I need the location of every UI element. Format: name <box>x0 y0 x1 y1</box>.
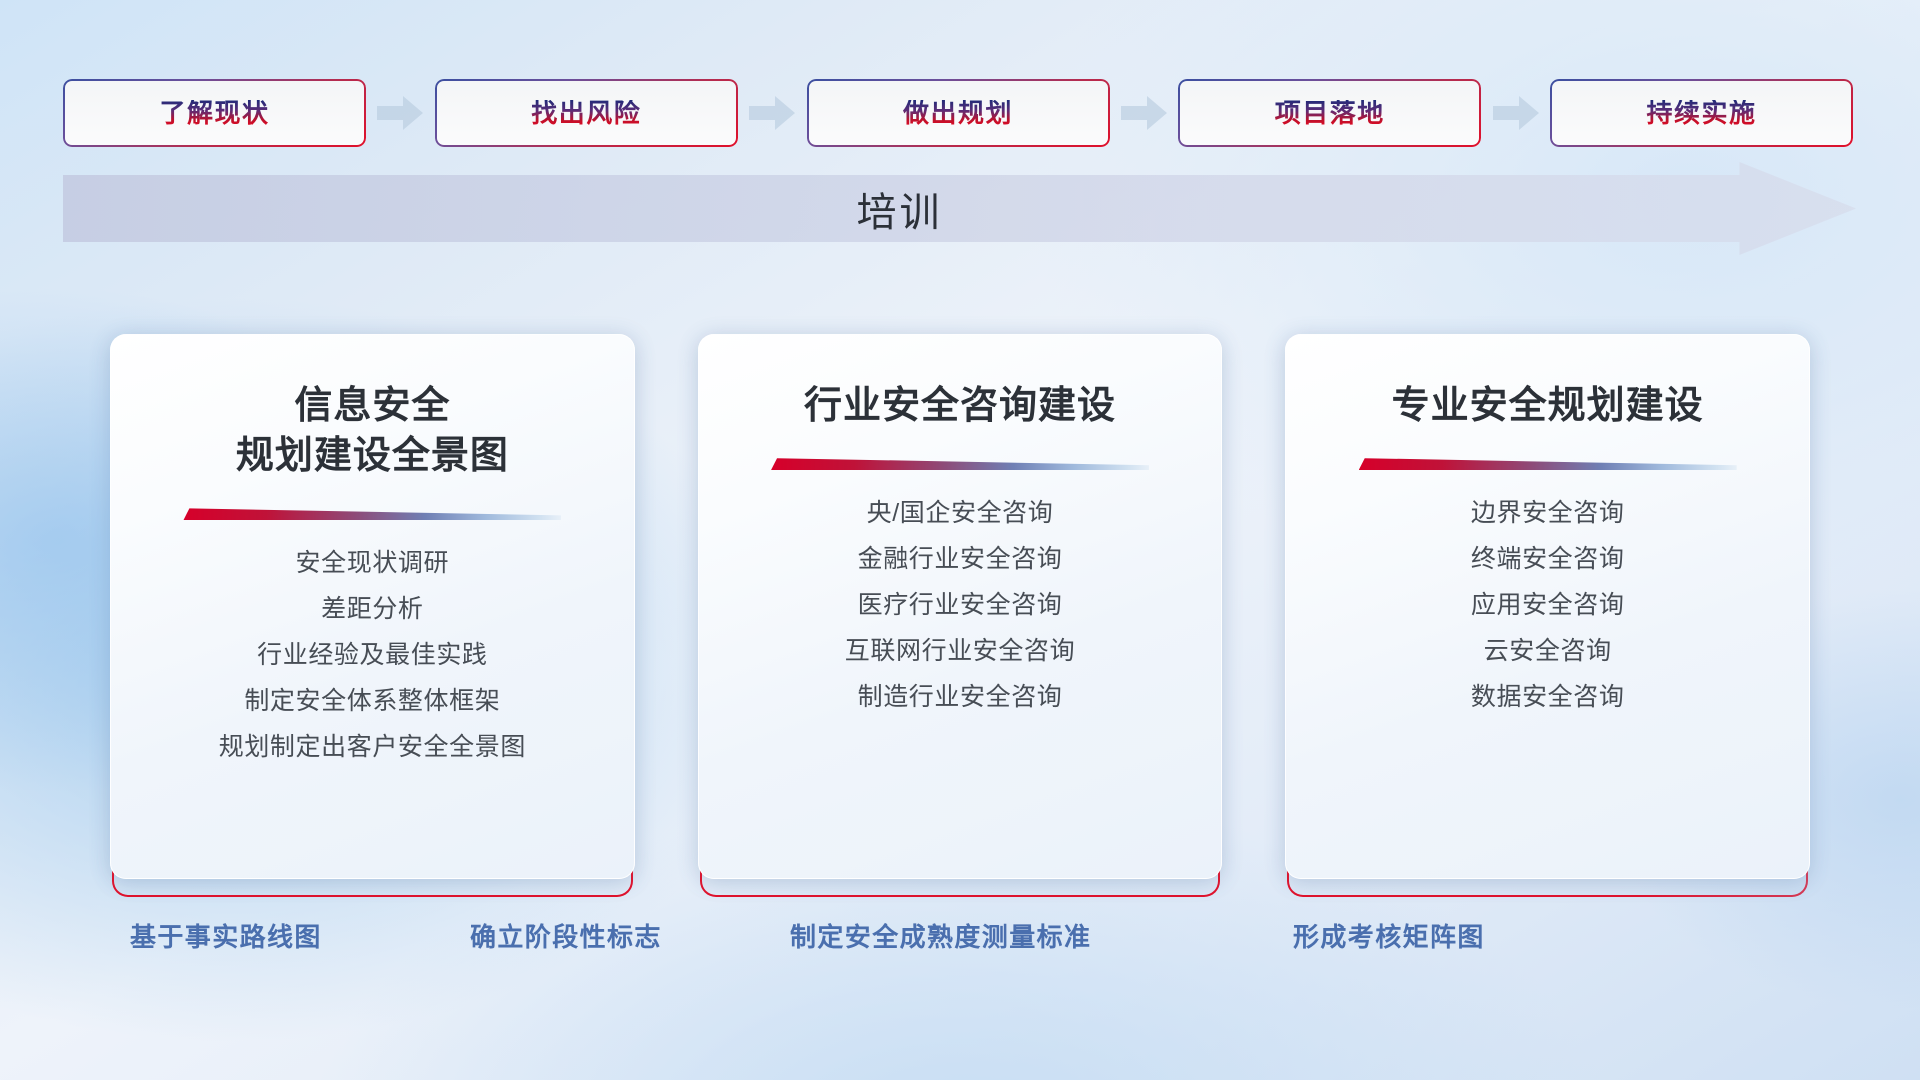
slide-canvas: 了解现状 找出风险 做出规划 项目落地 <box>0 0 1920 1080</box>
footer-label-row: 基于事实路线图 确立阶段性标志 制定安全成熟度测量标准 形成考核矩阵图 <box>0 917 1920 959</box>
step-box-3[interactable]: 做出规划 <box>807 79 1110 147</box>
arrow-right-icon <box>738 79 807 147</box>
process-step-row: 了解现状 找出风险 做出规划 项目落地 <box>63 79 1853 147</box>
list-item: 金融行业安全咨询 <box>858 544 1063 574</box>
list-item: 规划制定出客户安全全景图 <box>219 732 526 762</box>
footer-label-4: 形成考核矩阵图 <box>1293 917 1485 954</box>
step-label: 项目落地 <box>1275 100 1385 126</box>
card-body: 行业安全咨询建设 央/国企安全咨询 金融行业安全咨询 医疗行业安全咨询 互联网行… <box>698 334 1223 879</box>
list-item: 制造行业安全咨询 <box>858 682 1063 712</box>
step-label: 找出风险 <box>531 100 641 126</box>
arrow-right-icon <box>1110 79 1179 147</box>
step-label: 持续实施 <box>1646 100 1756 126</box>
list-item: 差距分析 <box>321 594 423 624</box>
arrow-right-icon <box>1481 79 1550 147</box>
training-banner: 培训 <box>63 162 1856 255</box>
list-item: 安全现状调研 <box>296 548 450 578</box>
card-title: 信息安全 规划建设全景图 <box>236 381 509 481</box>
list-item: 医疗行业安全咨询 <box>858 590 1063 620</box>
footer-label-3: 制定安全成熟度测量标准 <box>790 917 1091 954</box>
card-title: 专业安全规划建设 <box>1392 381 1704 431</box>
footer-label-2: 确立阶段性标志 <box>470 917 662 954</box>
list-item: 应用安全咨询 <box>1471 590 1625 620</box>
card-2[interactable]: 行业安全咨询建设 央/国企安全咨询 金融行业安全咨询 医疗行业安全咨询 互联网行… <box>698 334 1223 879</box>
list-item: 行业经验及最佳实践 <box>257 640 487 670</box>
card-row: 信息安全 规划建设全景图 安全现状调研 差距分析 行业经验及最佳实践 制定安全体… <box>110 334 1810 879</box>
list-item: 制定安全体系整体框架 <box>244 686 500 716</box>
step-box-1[interactable]: 了解现状 <box>63 79 366 147</box>
card-list: 安全现状调研 差距分析 行业经验及最佳实践 制定安全体系整体框架 规划制定出客户… <box>219 548 526 762</box>
card-body: 信息安全 规划建设全景图 安全现状调研 差距分析 行业经验及最佳实践 制定安全体… <box>110 334 635 879</box>
footer-label-1: 基于事实路线图 <box>130 917 322 954</box>
step-box-2[interactable]: 找出风险 <box>435 79 738 147</box>
list-item: 央/国企安全咨询 <box>867 498 1054 528</box>
card-3[interactable]: 专业安全规划建设 边界安全咨询 终端安全咨询 应用安全咨询 云安全咨询 数据安全… <box>1285 334 1810 879</box>
card-list: 边界安全咨询 终端安全咨询 应用安全咨询 云安全咨询 数据安全咨询 <box>1471 498 1625 712</box>
card-list: 央/国企安全咨询 金融行业安全咨询 医疗行业安全咨询 互联网行业安全咨询 制造行… <box>845 498 1075 712</box>
list-item: 边界安全咨询 <box>1471 498 1625 528</box>
list-item: 数据安全咨询 <box>1471 682 1625 712</box>
step-box-4[interactable]: 项目落地 <box>1178 79 1481 147</box>
step-label: 了解现状 <box>159 100 269 126</box>
list-item: 互联网行业安全咨询 <box>845 636 1075 666</box>
list-item: 云安全咨询 <box>1484 636 1612 666</box>
card-body: 专业安全规划建设 边界安全咨询 终端安全咨询 应用安全咨询 云安全咨询 数据安全… <box>1285 334 1810 879</box>
card-title: 行业安全咨询建设 <box>804 381 1116 431</box>
banner-title: 培训 <box>63 162 1856 255</box>
card-1[interactable]: 信息安全 规划建设全景图 安全现状调研 差距分析 行业经验及最佳实践 制定安全体… <box>110 334 635 879</box>
card-divider <box>1359 457 1737 470</box>
card-divider <box>771 457 1149 470</box>
step-label: 做出规划 <box>903 100 1013 126</box>
card-divider <box>183 507 561 520</box>
step-box-5[interactable]: 持续实施 <box>1550 79 1853 147</box>
list-item: 终端安全咨询 <box>1471 544 1625 574</box>
arrow-right-icon <box>366 79 435 147</box>
